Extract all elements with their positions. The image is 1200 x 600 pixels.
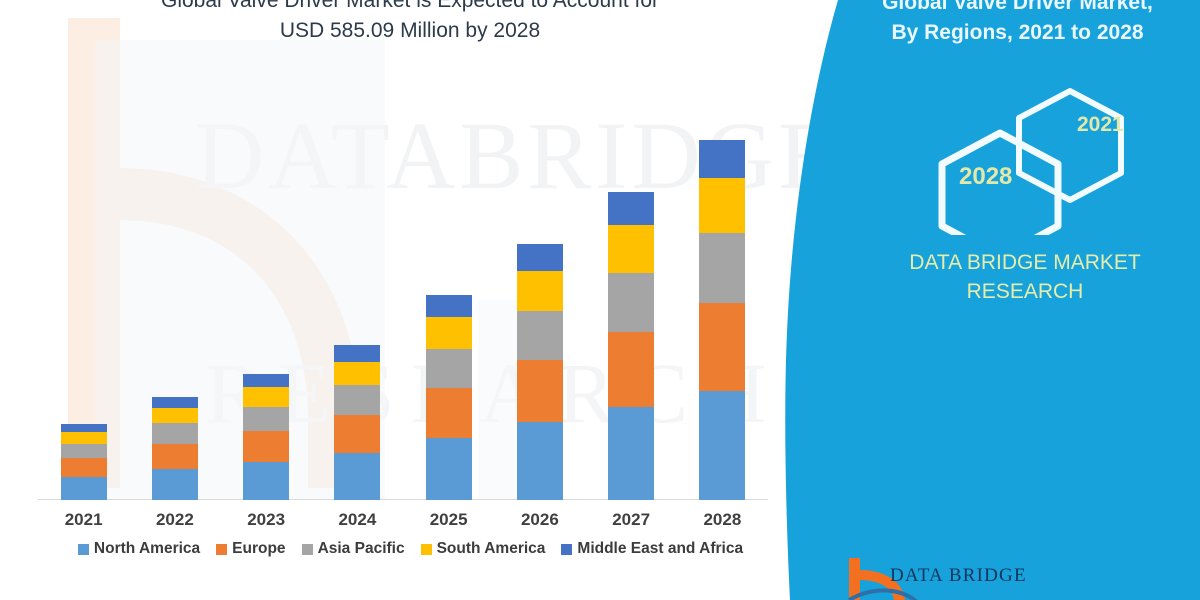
bar-segment-north-america: [152, 469, 198, 500]
right-panel-title: Global Valve Driver Market, By Regions, …: [845, 0, 1190, 48]
bar-segment-asia-pacific: [61, 444, 107, 459]
bar-segment-south-america: [334, 362, 380, 386]
brand-line-1: DATA BRIDGE MARKET: [880, 248, 1170, 277]
hexagon-group: 2021 2028: [925, 85, 1190, 235]
bar-segment-asia-pacific: [608, 273, 654, 332]
bar-segment-europe: [61, 458, 107, 476]
bar-segment-south-america: [426, 317, 472, 348]
x-axis-label-2028: 2028: [677, 510, 767, 530]
bar-segment-europe: [517, 360, 563, 422]
bar-segment-europe: [243, 431, 289, 462]
bar-2026: [517, 244, 563, 500]
x-axis-label-2021: 2021: [39, 510, 129, 530]
legend-label: Asia Pacific: [318, 540, 405, 558]
bar-segment-south-america: [608, 225, 654, 272]
bar-segment-europe: [699, 303, 745, 391]
legend-item-north-america[interactable]: North America: [78, 540, 200, 558]
legend-swatch-icon: [561, 544, 572, 555]
bar-segment-south-america: [517, 271, 563, 310]
legend-swatch-icon: [78, 544, 89, 555]
legend-item-europe[interactable]: Europe: [216, 540, 285, 558]
right-panel-title-line-2: By Regions, 2021 to 2028: [845, 18, 1190, 48]
bar-2025: [426, 295, 472, 500]
bar-segment-asia-pacific: [334, 385, 380, 415]
bar-segment-middle-east-and-africa: [517, 244, 563, 272]
bar-segment-south-america: [61, 432, 107, 444]
hexagon-label-2028: 2028: [959, 163, 1012, 191]
bar-segment-north-america: [699, 391, 745, 500]
x-axis-label-2026: 2026: [495, 510, 585, 530]
x-axis-labels: 20212022202320242025202620272028: [38, 510, 768, 536]
brand-line-2: RESEARCH: [880, 277, 1170, 306]
bar-segment-europe: [608, 332, 654, 407]
bar-segment-asia-pacific: [517, 311, 563, 361]
chart-title-line-1: Global Valve Driver Market is Expected t…: [60, 0, 760, 16]
bar-segment-middle-east-and-africa: [152, 397, 198, 408]
legend-swatch-icon: [216, 544, 227, 555]
legend-item-middle-east-and-africa[interactable]: Middle East and Africa: [561, 540, 743, 558]
bar-segment-north-america: [334, 453, 380, 500]
hexagon-outlines-icon: [925, 85, 1190, 235]
bar-segment-north-america: [61, 477, 107, 500]
legend-label: Europe: [232, 540, 285, 558]
x-axis-label-2027: 2027: [586, 510, 676, 530]
bar-segment-middle-east-and-africa: [426, 295, 472, 317]
bar-segment-north-america: [243, 462, 289, 500]
x-axis-label-2025: 2025: [404, 510, 494, 530]
legend-swatch-icon: [421, 544, 432, 555]
bar-2027: [608, 192, 654, 500]
bar-segment-middle-east-and-africa: [61, 424, 107, 432]
legend-label: Middle East and Africa: [577, 540, 743, 558]
bar-segment-europe: [152, 444, 198, 469]
bar-segment-middle-east-and-africa: [699, 140, 745, 179]
bar-segment-south-america: [152, 408, 198, 423]
bar-2024: [334, 345, 380, 500]
chart-title: Global Valve Driver Market is Expected t…: [60, 0, 760, 46]
bar-chart-plot: [38, 120, 768, 500]
logo-text: DATA BRIDGE: [890, 565, 1027, 587]
bar-segment-middle-east-and-africa: [334, 345, 380, 362]
x-axis-label-2023: 2023: [221, 510, 311, 530]
bar-segment-north-america: [517, 422, 563, 500]
bar-segment-europe: [426, 388, 472, 438]
chart-title-line-2: USD 585.09 Million by 2028: [60, 16, 760, 46]
bar-2021: [61, 424, 107, 500]
right-panel-title-line-1: Global Valve Driver Market,: [845, 0, 1190, 18]
bar-segment-asia-pacific: [699, 233, 745, 303]
bar-segment-south-america: [699, 178, 745, 233]
legend-swatch-icon: [302, 544, 313, 555]
bar-segment-asia-pacific: [243, 407, 289, 432]
bar-segment-middle-east-and-africa: [243, 374, 289, 387]
bar-segment-europe: [334, 415, 380, 453]
x-axis-label-2024: 2024: [312, 510, 402, 530]
legend-item-asia-pacific[interactable]: Asia Pacific: [302, 540, 405, 558]
bar-2023: [243, 374, 289, 500]
bar-segment-south-america: [243, 387, 289, 407]
infographic-canvas: DATABRIDGE RESEARCH Global Valve Driver …: [0, 0, 1200, 600]
x-axis-label-2022: 2022: [130, 510, 220, 530]
bar-2022: [152, 397, 198, 500]
bar-segment-asia-pacific: [426, 349, 472, 389]
hexagon-label-2021: 2021: [1077, 113, 1124, 137]
bar-2028: [699, 140, 745, 500]
legend-item-south-america[interactable]: South America: [421, 540, 546, 558]
bar-segment-north-america: [608, 407, 654, 500]
bar-segment-middle-east-and-africa: [608, 192, 654, 225]
brand-name: DATA BRIDGE MARKET RESEARCH: [880, 248, 1170, 306]
chart-legend: North AmericaEuropeAsia PacificSouth Ame…: [38, 540, 783, 558]
legend-label: North America: [94, 540, 200, 558]
bar-segment-north-america: [426, 438, 472, 500]
bar-segment-asia-pacific: [152, 423, 198, 443]
legend-label: South America: [437, 540, 546, 558]
